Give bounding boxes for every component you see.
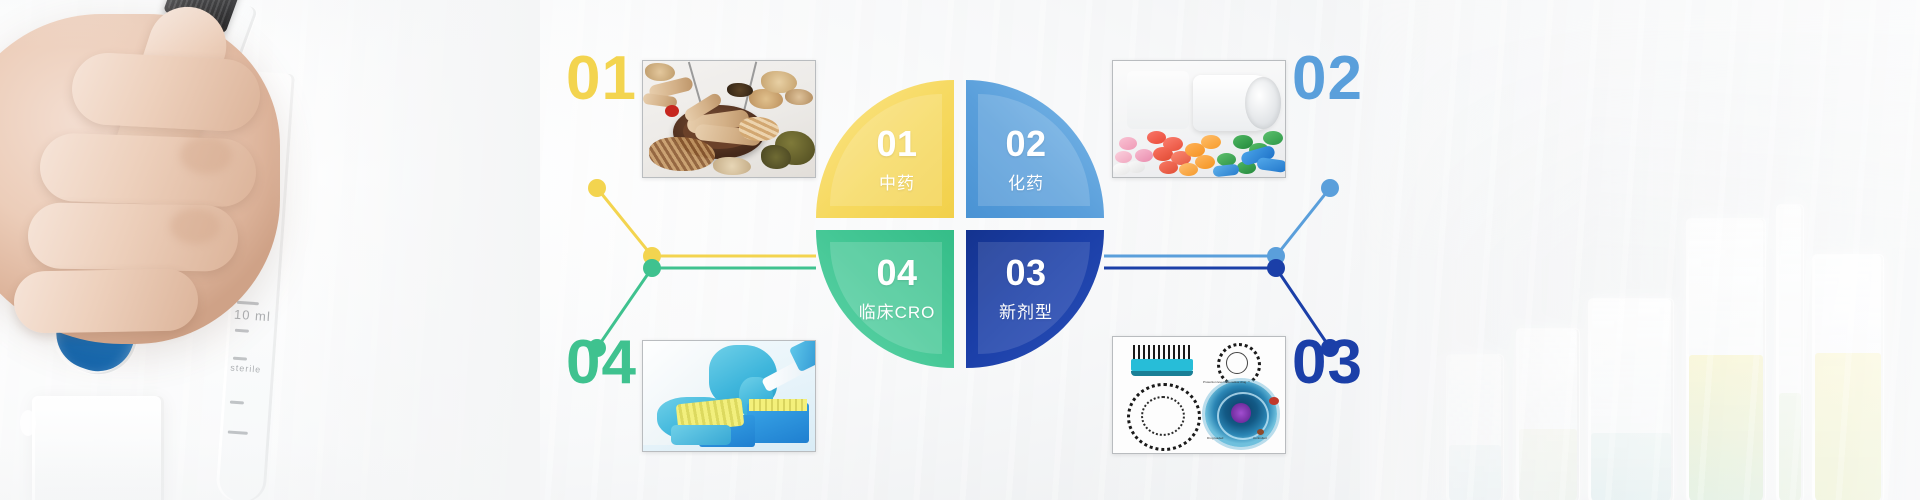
wheel-quadrant-02[interactable]: 02 化药	[966, 80, 1104, 218]
wheel-quadrant-02-number: 02	[1005, 126, 1046, 162]
wheel-quadrant-04-caption: 临床CRO	[859, 298, 936, 323]
connector-dot-02-outer	[1321, 179, 1339, 197]
callout-number-02: 02	[1292, 48, 1363, 110]
wheel-quadrant-03-number: 03	[1005, 255, 1046, 291]
connector-dot-04-inner	[643, 259, 661, 277]
connector-line-02	[1104, 188, 1330, 256]
pills-and-bottle-photo[interactable]	[1112, 60, 1286, 178]
chinese-herbal-medicine-photo[interactable]	[642, 60, 816, 178]
wheel-quadrant-04-inner: 04 临床CRO	[830, 242, 942, 354]
callout-number-01: 01	[566, 48, 637, 110]
liposome-formulation-diagram-photo[interactable]: Protection level of sensitive drug Drug …	[1112, 336, 1286, 454]
wheel-quadrant-01-inner: 01 中药	[830, 94, 942, 206]
wheel-quadrant-03-caption: 新剂型	[999, 298, 1053, 323]
wheel-quadrant-03-inner: 03 新剂型	[978, 242, 1090, 354]
wheel-quadrant-01-caption: 中药	[879, 169, 915, 194]
callout-number-04: 04	[566, 332, 637, 394]
connector-line-01	[597, 188, 816, 256]
quadrant-wheel: 01 中药 02 化药 03 新剂型 04 临床CRO	[816, 80, 1104, 368]
wheel-quadrant-02-inner: 02 化药	[978, 94, 1090, 206]
wheel-quadrant-02-caption: 化药	[1008, 169, 1044, 194]
connector-dot-01-outer	[588, 179, 606, 197]
wheel-quadrant-01[interactable]: 01 中药	[816, 80, 954, 218]
callout-number-03: 03	[1292, 332, 1363, 394]
wheel-quadrant-03[interactable]: 03 新剂型	[966, 230, 1104, 368]
wheel-quadrant-04[interactable]: 04 临床CRO	[816, 230, 954, 368]
connector-dot-03-inner	[1267, 259, 1285, 277]
banner-stage: 10 ml sterile	[0, 0, 1920, 500]
wheel-quadrant-01-number: 01	[876, 126, 917, 162]
lab-pipetting-photo[interactable]	[642, 340, 816, 452]
wheel-quadrant-04-number: 04	[876, 255, 917, 291]
